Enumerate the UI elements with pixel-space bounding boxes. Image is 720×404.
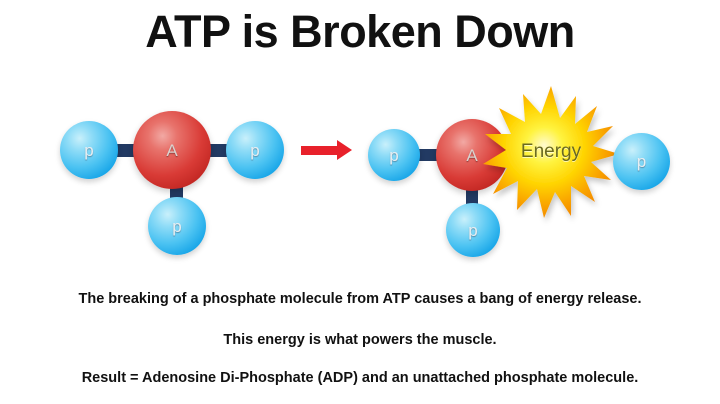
phosphate-sphere-left: p: [368, 129, 420, 181]
phosphate-label: p: [172, 218, 181, 235]
phosphate-label: p: [637, 153, 646, 170]
phosphate-label: p: [468, 222, 477, 239]
arrow-shaft: [301, 146, 338, 155]
phosphate-label: p: [389, 147, 398, 164]
arrow-head-icon: [337, 140, 352, 160]
page-title: ATP is Broken Down: [0, 6, 720, 58]
energy-label: Energy: [483, 141, 619, 163]
adenosine-label: A: [166, 142, 177, 159]
adenosine-sphere: A: [133, 111, 211, 189]
caption-line-1: The breaking of a phosphate molecule fro…: [0, 291, 720, 307]
phosphate-label: p: [84, 142, 93, 159]
phosphate-sphere-bottom: p: [148, 197, 206, 255]
atp-breakdown-diagram: ATP is Broken Down p A p p p: [0, 0, 720, 404]
phosphate-sphere-left: p: [60, 121, 118, 179]
phosphate-sphere-right: p: [226, 121, 284, 179]
detached-phosphate-sphere: p: [613, 133, 670, 190]
caption-line-2: This energy is what powers the muscle.: [0, 332, 720, 348]
adenosine-label: A: [466, 147, 477, 164]
caption-line-3: Result = Adenosine Di-Phosphate (ADP) an…: [0, 370, 720, 386]
phosphate-label: p: [250, 142, 259, 159]
